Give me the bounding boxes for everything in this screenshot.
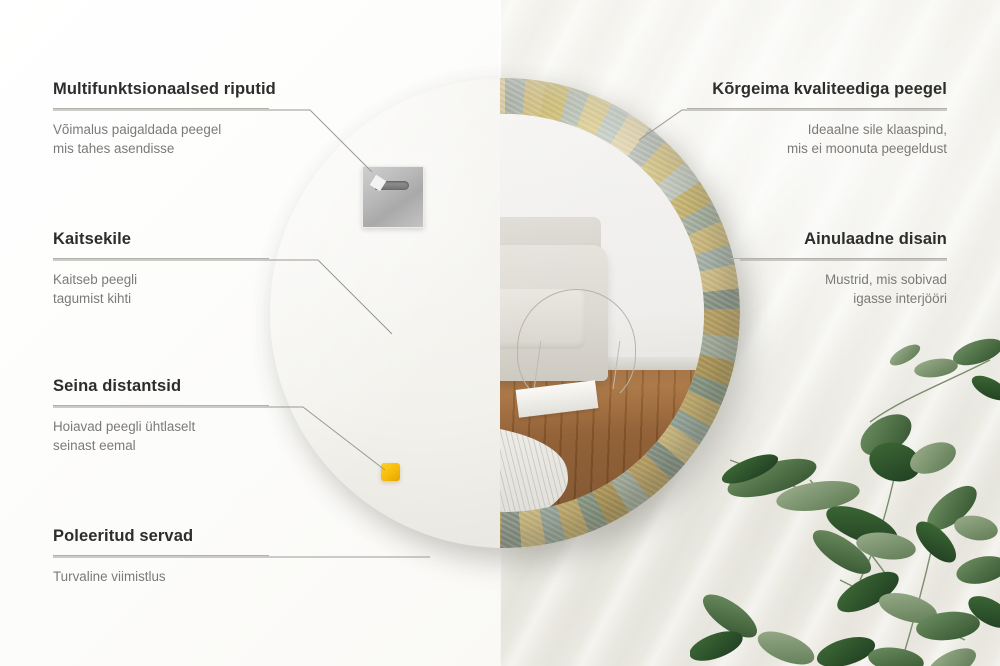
round-mirror <box>270 78 740 548</box>
callout-rule <box>687 108 947 109</box>
callout-description: Mustrid, mis sobivad igasse interjööri <box>731 270 947 308</box>
infographic-stage: Multifunktsionaalsed riputid Võimalus pa… <box>0 0 1000 666</box>
callout-title: Poleeritud servad <box>53 527 269 546</box>
callout-description: Ideaalne sile klaaspind, mis ei moonuta … <box>687 120 947 158</box>
callout-description: Kaitseb peegli tagumist kihti <box>53 270 269 308</box>
callout-rule <box>53 555 269 556</box>
yellow-spacer <box>381 463 400 481</box>
callout-title: Ainulaadne disain <box>731 230 947 249</box>
callout-description: Võimalus paigaldada peegel mis tahes ase… <box>53 120 269 158</box>
plant-leaves <box>690 334 1000 666</box>
hanger-plate <box>362 166 424 228</box>
callout-rule <box>53 258 269 259</box>
callout-title: Kõrgeima kvaliteediga peegel <box>687 80 947 99</box>
callout-title: Multifunktsionaalsed riputid <box>53 80 269 99</box>
callout-seina-distantsid: Seina distantsid Hoiavad peegli ühtlasel… <box>53 377 269 455</box>
callout-description: Hoiavad peegli ühtlaselt seinast eemal <box>53 417 269 455</box>
callout-kaitsekile: Kaitsekile Kaitseb peegli tagumist kihti <box>53 230 269 308</box>
callout-title: Seina distantsid <box>53 377 269 396</box>
callout-rule <box>53 108 269 109</box>
callout-poleeritud-servad: Poleeritud servad Turvaline viimistlus <box>53 527 269 586</box>
foreground-plant <box>690 330 1000 666</box>
callout-rule <box>53 405 269 406</box>
keyhole-slot-icon <box>375 181 409 190</box>
callout-title: Kaitsekile <box>53 230 269 249</box>
callout-rule <box>731 258 947 259</box>
callout-multifunktsionaalsed-riputid: Multifunktsionaalsed riputid Võimalus pa… <box>53 80 269 158</box>
callout-korgeima-kvaliteediga-peegel: Kõrgeima kvaliteediga peegel Ideaalne si… <box>687 80 947 158</box>
callout-ainulaadne-disain: Ainulaadne disain Mustrid, mis sobivad i… <box>731 230 947 308</box>
callout-description: Turvaline viimistlus <box>53 567 269 586</box>
